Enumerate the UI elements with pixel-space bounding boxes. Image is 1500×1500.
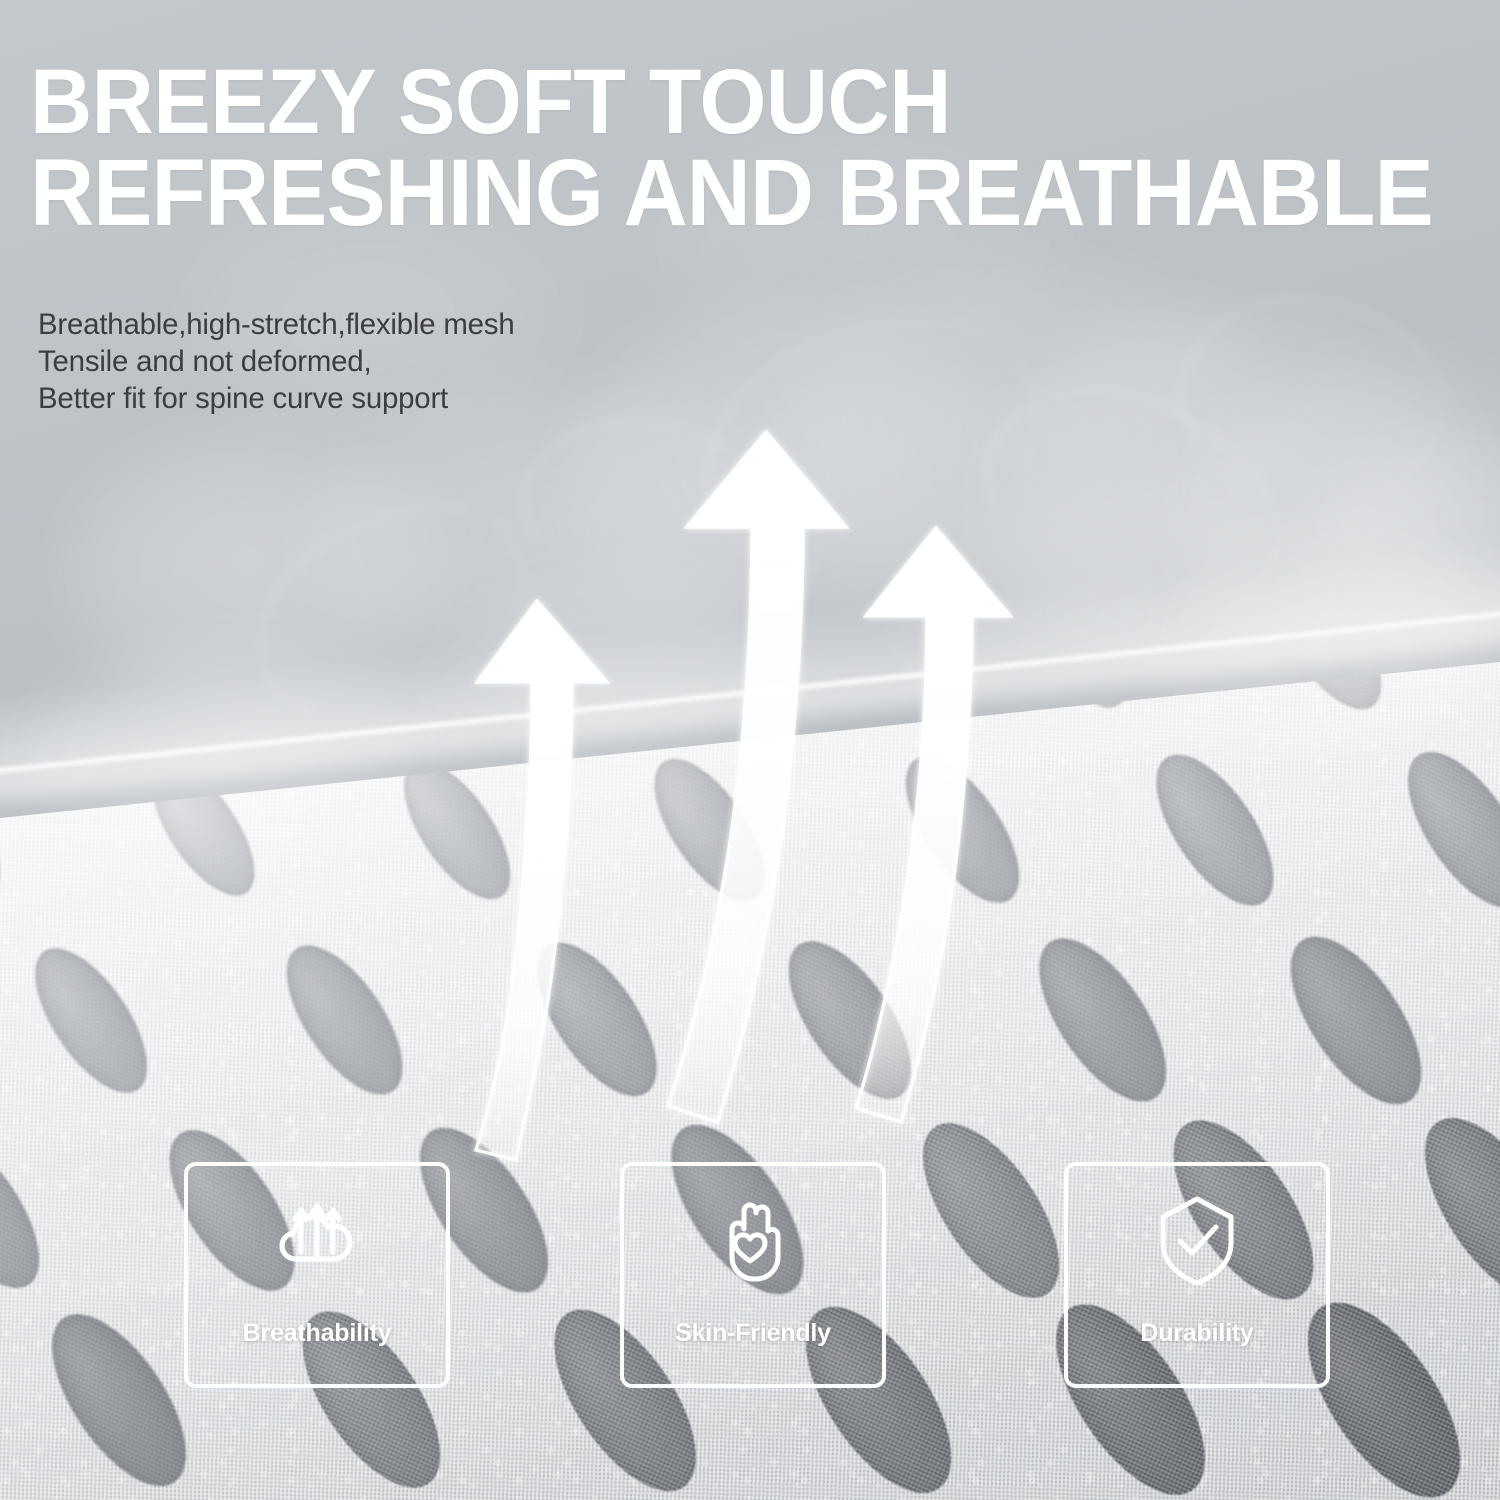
feature-cards-row: Breathability Skin-Friendly bbox=[0, 0, 1500, 1500]
hand-with-heart-icon bbox=[701, 1188, 805, 1294]
feature-card-skin-friendly[interactable]: Skin-Friendly bbox=[620, 1162, 886, 1388]
feature-card-durability[interactable]: Durability bbox=[1064, 1162, 1330, 1388]
shield-check-icon bbox=[1145, 1188, 1249, 1294]
product-feature-banner: BREEZY SOFT TOUCH REFRESHING AND BREATHA… bbox=[0, 0, 1500, 1500]
feature-card-label: Breathability bbox=[188, 1319, 446, 1348]
feature-card-label: Durability bbox=[1068, 1319, 1326, 1348]
cloud-with-up-arrows-icon bbox=[265, 1188, 369, 1294]
feature-card-breathability[interactable]: Breathability bbox=[184, 1162, 450, 1388]
feature-card-label: Skin-Friendly bbox=[624, 1319, 882, 1348]
